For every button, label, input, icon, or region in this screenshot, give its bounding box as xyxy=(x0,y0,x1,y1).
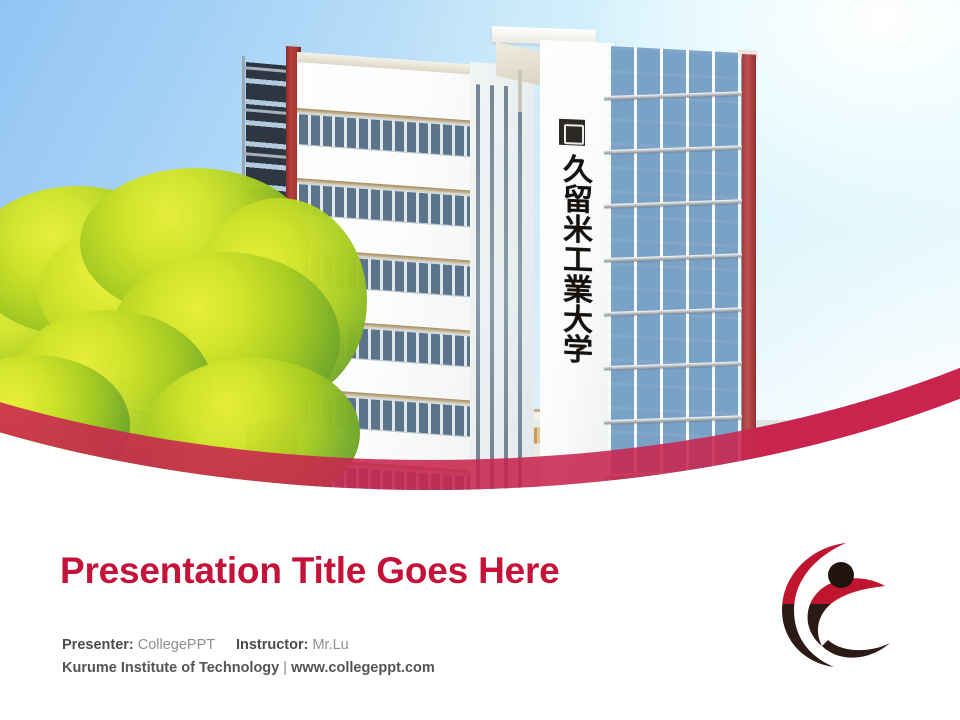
logo-head-dot xyxy=(828,562,854,588)
hero-photo-arc-clip: 久留米工業大学 xyxy=(0,0,960,500)
kurume-logo-icon xyxy=(772,540,904,670)
meta-separator: | xyxy=(283,660,287,676)
hero-photo-region: 久留米工業大学 xyxy=(0,0,960,500)
campus-photo: 久留米工業大学 xyxy=(0,0,960,500)
red-pillar-right xyxy=(742,54,756,500)
signage-tower: 久留米工業大学 xyxy=(540,40,614,500)
building-sign-text: 久留米工業大学 xyxy=(556,153,590,364)
instructor-label: Instructor: xyxy=(236,637,309,653)
university-logo xyxy=(772,540,904,670)
website-url[interactable]: www.collegeppt.com xyxy=(291,660,435,676)
foreground-tree xyxy=(0,180,380,500)
page-title: Presentation Title Goes Here xyxy=(60,550,560,592)
presenter-label: Presenter: xyxy=(62,637,134,653)
university-emblem-mark xyxy=(559,119,585,146)
meta-line-2: Kurume Institute of Technology | www.col… xyxy=(62,657,435,680)
presenter-name: CollegePPT xyxy=(138,637,215,653)
glass-wing-facade xyxy=(608,46,748,500)
building-window-strip xyxy=(470,62,534,500)
institution-name: Kurume Institute of Technology xyxy=(62,660,279,676)
presenter-meta-block: Presenter: CollegePPT Instructor: Mr.Lu … xyxy=(62,634,435,680)
presentation-slide: 久留米工業大学 xyxy=(0,0,960,720)
canopy-support-post xyxy=(518,70,522,112)
instructor-name: Mr.Lu xyxy=(312,637,348,653)
meta-line-1: Presenter: CollegePPT Instructor: Mr.Lu xyxy=(62,634,435,657)
